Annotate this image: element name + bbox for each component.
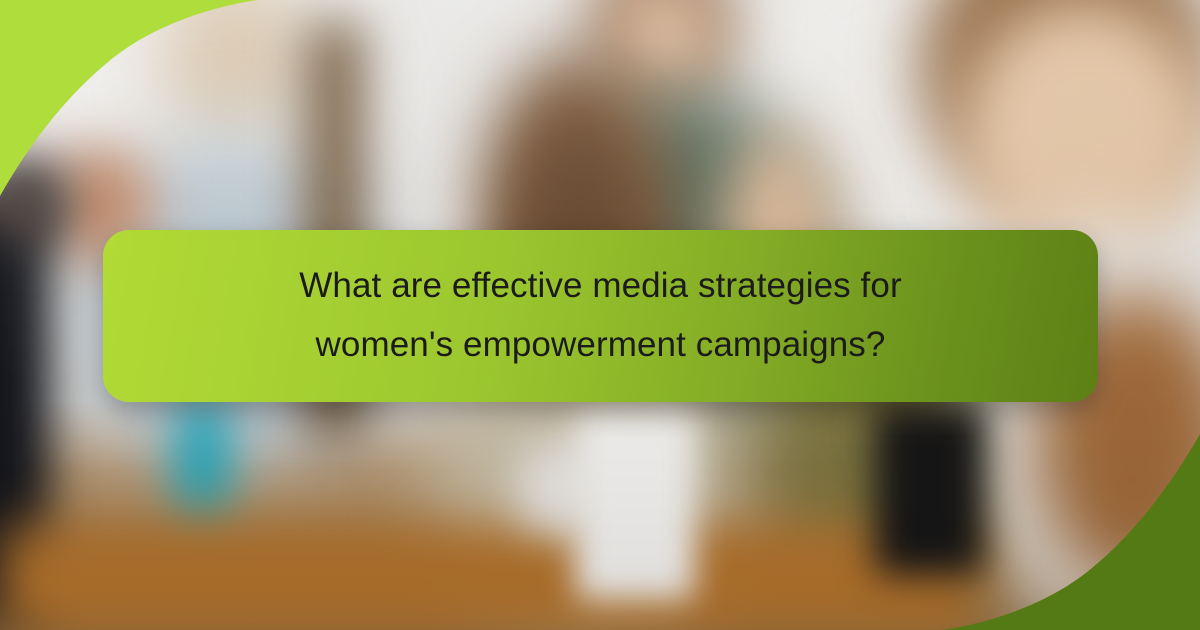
question-text: What are effective media strategies for … xyxy=(143,257,1058,375)
question-banner: What are effective media strategies for … xyxy=(103,230,1098,402)
question-card: What are effective media strategies for … xyxy=(0,0,1200,630)
